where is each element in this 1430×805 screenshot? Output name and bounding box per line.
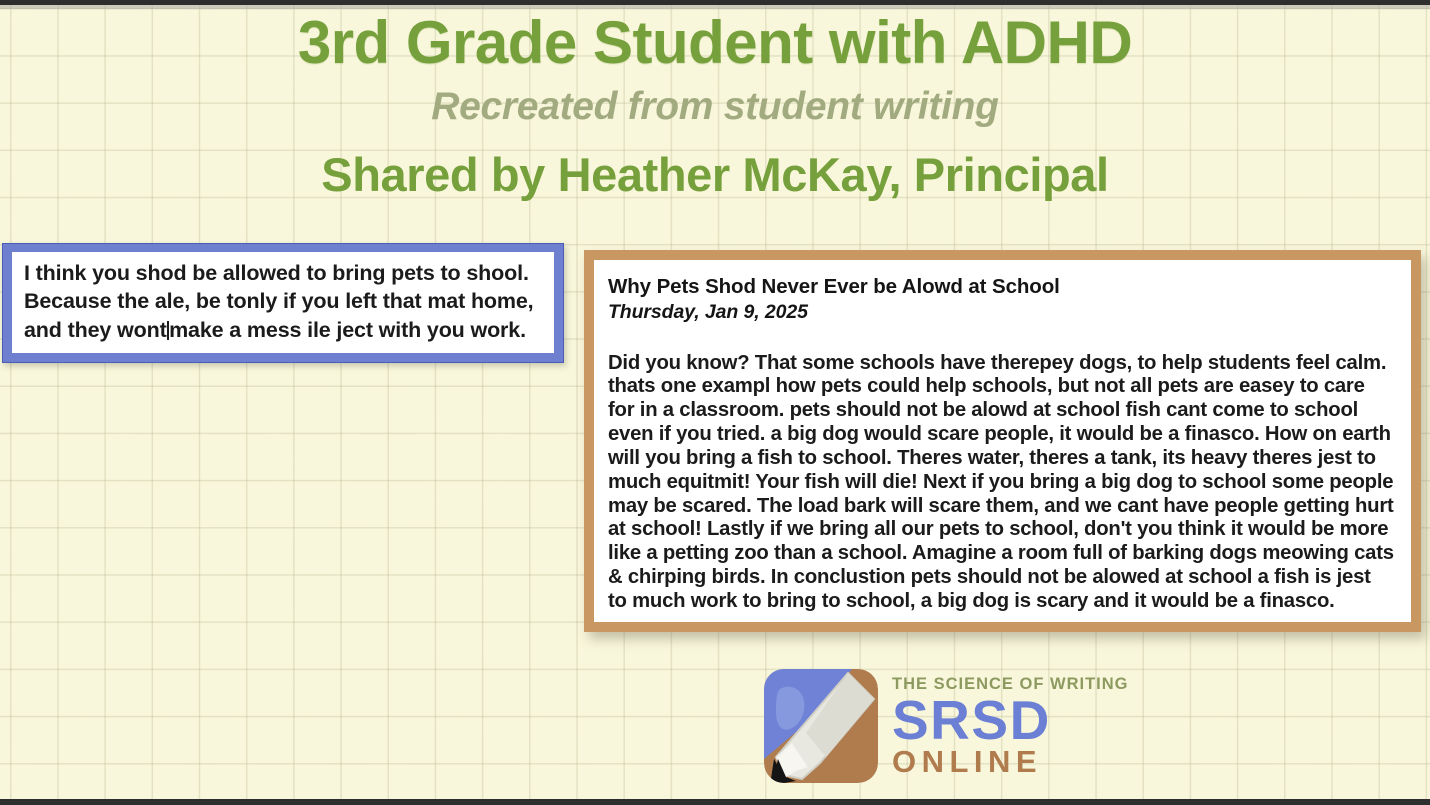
student-sample-line-1: I think you shod be allowed to bring pet…	[24, 259, 544, 287]
page-credit: Shared by Heather McKay, Principal	[0, 146, 1430, 205]
student-sample-box: I think you shod be allowed to bring pet…	[2, 243, 564, 363]
slide-canvas: 3rd Grade Student with ADHD Recreated fr…	[0, 0, 1430, 805]
srsd-online-logo: THE SCIENCE OF WRITING SRSD ONLINE	[762, 666, 1074, 786]
student-sample-line-3-part-b: make a mess ile ject with you work.	[169, 318, 526, 342]
student-sample-line-2: Because the ale, be tonly if you left th…	[24, 287, 544, 315]
page-title: 3rd Grade Student with ADHD	[0, 6, 1430, 79]
essay-date: Thursday, Jan 9, 2025	[608, 300, 1394, 325]
top-edge-bar	[0, 0, 1430, 5]
top-edge-bar-soft	[0, 5, 1430, 9]
student-sample-line-3-part-a: and they wont	[24, 318, 167, 342]
pencil-icon	[762, 667, 880, 785]
bottom-edge-bar	[0, 799, 1430, 805]
essay-title: Why Pets Shod Never Ever be Alowd at Sch…	[608, 274, 1394, 300]
logo-suffix: ONLINE	[892, 746, 1129, 779]
logo-name: SRSD	[892, 694, 1129, 748]
slide-header: 3rd Grade Student with ADHD Recreated fr…	[0, 0, 1430, 205]
student-essay-page: Why Pets Shod Never Ever be Alowd at Sch…	[594, 260, 1411, 622]
student-essay-document: Why Pets Shod Never Ever be Alowd at Sch…	[584, 250, 1421, 632]
essay-body: Did you know? That some schools have the…	[608, 352, 1394, 614]
logo-wordmark: THE SCIENCE OF WRITING SRSD ONLINE	[892, 674, 1129, 779]
student-sample-line-3: and they wontmake a mess ile ject with y…	[24, 316, 544, 344]
page-subtitle: Recreated from student writing	[0, 83, 1430, 132]
student-sample-inner: I think you shod be allowed to bring pet…	[12, 252, 554, 353]
